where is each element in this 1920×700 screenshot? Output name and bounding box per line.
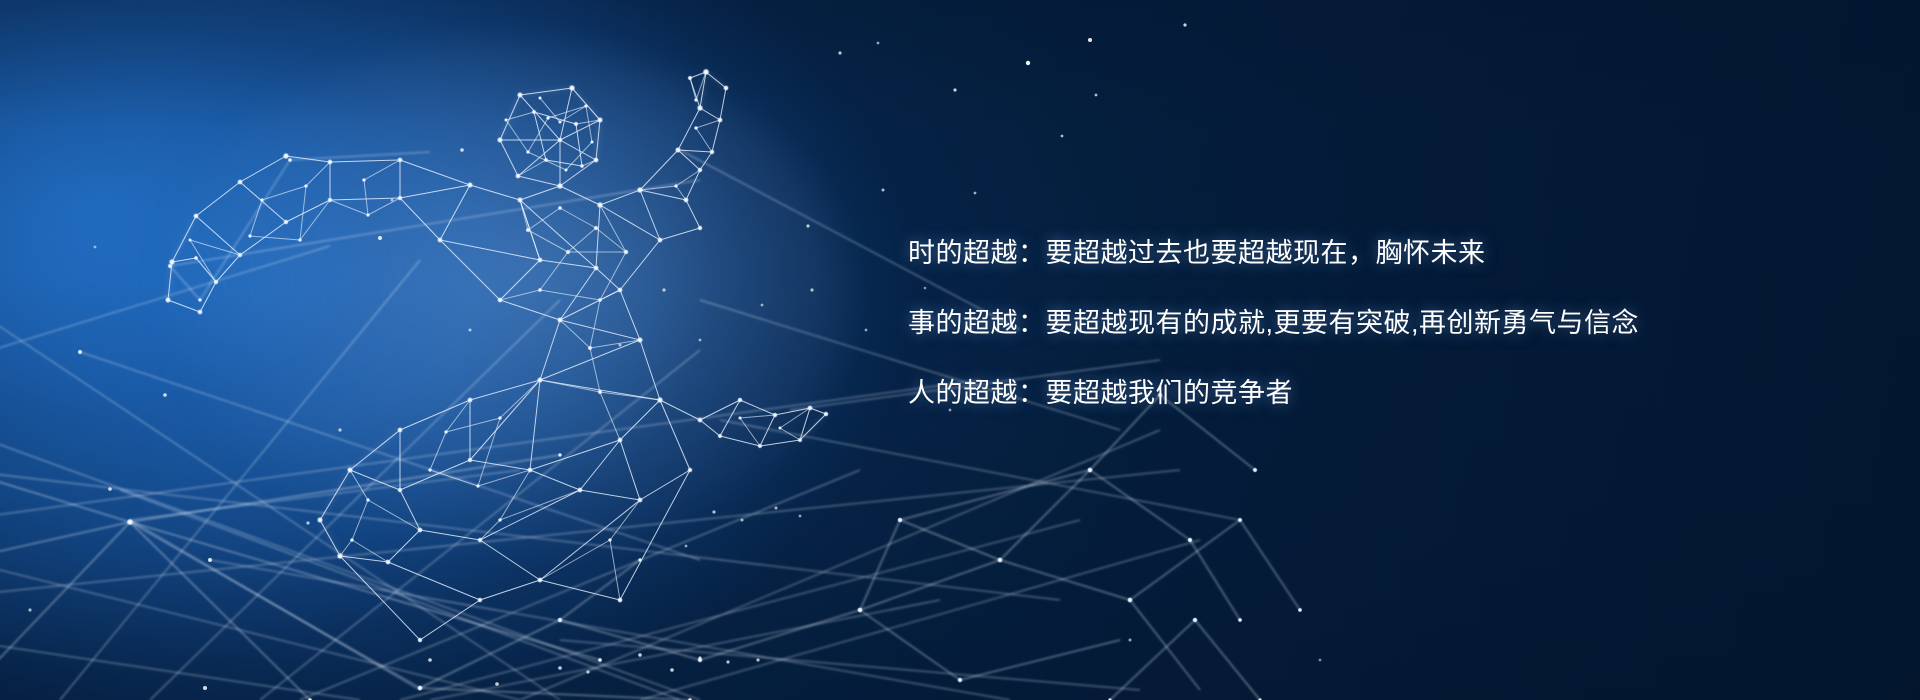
banner-stage: 时的超越：要超越过去也要超越现在，胸怀未来 事的超越：要超越现有的成就,更要有突… — [0, 0, 1920, 700]
slogan-line-matter: 事的超越：要超越现有的成就,更要有突破,再创新勇气与信念 — [908, 310, 1868, 337]
slogan-line-time: 时的超越：要超越过去也要超越现在，胸怀未来 — [908, 240, 1868, 267]
slogan-block: 时的超越：要超越过去也要超越现在，胸怀未来 事的超越：要超越现有的成就,更要有突… — [908, 240, 1868, 407]
slogan-line-people: 人的超越：要超越我们的竞争者 — [908, 380, 1868, 407]
